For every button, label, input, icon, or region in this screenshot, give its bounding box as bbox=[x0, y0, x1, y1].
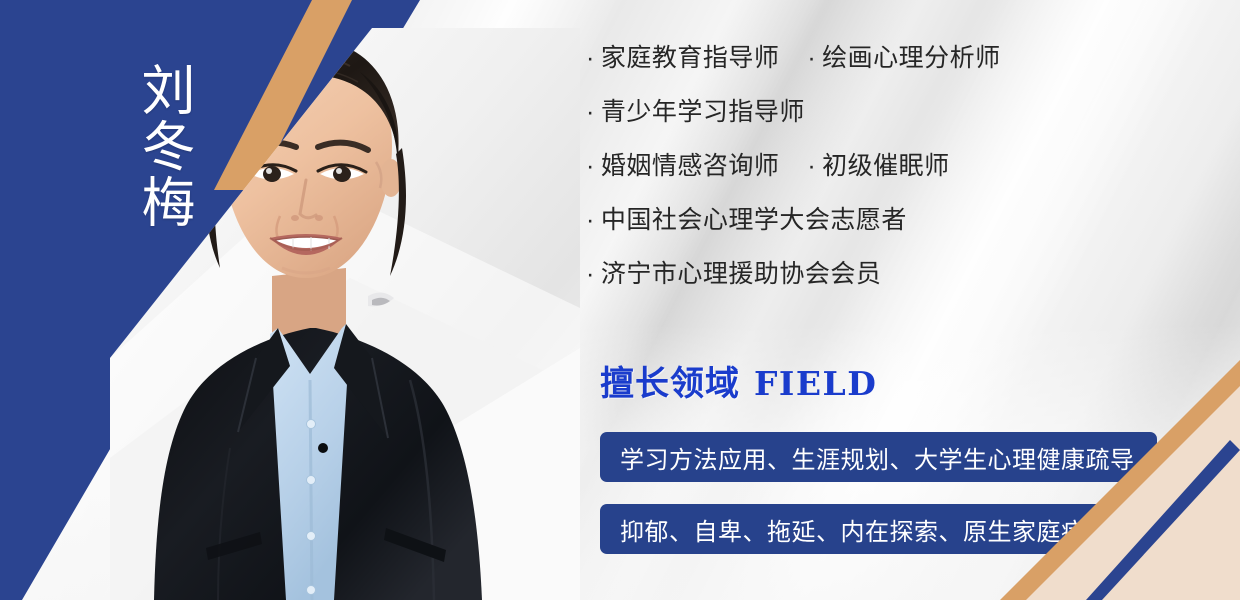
list-item: · 青少年学习指导师 bbox=[586, 100, 1186, 125]
credential-text: 婚姻情感咨询师 bbox=[601, 154, 780, 179]
credential-text: 济宁市心理援助协会会员 bbox=[601, 262, 882, 287]
credential-text: 绘画心理分析师 bbox=[822, 46, 1001, 71]
list-item: · 济宁市心理援助协会会员 bbox=[586, 262, 1186, 287]
credential-text: 家庭教育指导师 bbox=[601, 46, 780, 71]
field-heading-en: FIELD bbox=[754, 364, 877, 403]
bullet-dot: · bbox=[807, 46, 816, 71]
field-tag-1: 学习方法应用、生涯规划、大学生心理健康疏导 bbox=[600, 432, 1157, 482]
credential-text: 中国社会心理学大会志愿者 bbox=[601, 208, 907, 233]
credential-secondary: · 绘画心理分析师 bbox=[807, 46, 1000, 71]
portrait-photo bbox=[110, 28, 580, 600]
field-section-heading: 擅长领域 FIELD bbox=[600, 356, 877, 405]
list-item: · 婚姻情感咨询师 · 初级催眠师 bbox=[586, 154, 1186, 179]
bullet-dot: · bbox=[586, 154, 595, 179]
bullet-dot: · bbox=[586, 100, 595, 125]
bullet-dot: · bbox=[586, 262, 595, 287]
list-item: · 中国社会心理学大会志愿者 bbox=[586, 208, 1186, 233]
profile-banner: 刘冬梅 bbox=[0, 0, 1240, 600]
list-item: · 家庭教育指导师 · 绘画心理分析师 bbox=[586, 46, 1186, 71]
credential-text: 初级催眠师 bbox=[822, 154, 950, 179]
field-heading-cn: 擅长领域 bbox=[600, 356, 740, 405]
bullet-dot: · bbox=[586, 46, 595, 71]
credential-secondary: · 初级催眠师 bbox=[807, 154, 949, 179]
bullet-dot: · bbox=[586, 208, 595, 233]
bullet-dot: · bbox=[807, 154, 816, 179]
credentials-list: · 家庭教育指导师 · 绘画心理分析师 · 青少年学习指导师 · 婚姻情感咨询师… bbox=[586, 46, 1186, 316]
credential-text: 青少年学习指导师 bbox=[601, 100, 805, 125]
